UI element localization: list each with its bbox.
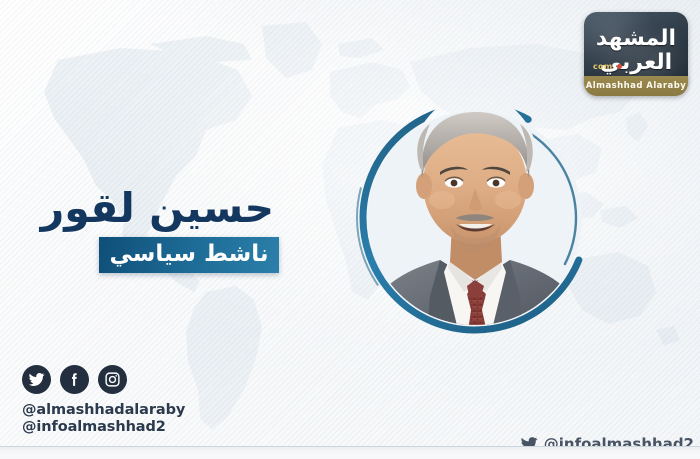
person-name: حسين لقور <box>0 186 290 232</box>
portrait-ring <box>338 88 613 353</box>
bottom-band <box>0 446 700 459</box>
portrait-area <box>338 88 613 353</box>
logo-dot-icon <box>617 64 622 69</box>
promo-card: المشهد العربي com Almashhad Alaraby <box>0 0 700 459</box>
handle-secondary[interactable]: @infoalmashhad2 <box>22 419 185 437</box>
person-title-text: ناشط سياسي <box>109 243 268 268</box>
social-block: @almashhadalaraby @infoalmashhad2 <box>22 365 185 437</box>
brand-logo[interactable]: المشهد العربي com Almashhad Alaraby <box>584 12 688 96</box>
social-icon-row <box>22 365 185 394</box>
logo-com-label: com <box>593 62 612 71</box>
person-title-banner: ناشط سياسي <box>99 237 279 273</box>
facebook-icon[interactable] <box>60 365 89 394</box>
twitter-icon[interactable] <box>22 365 51 394</box>
instagram-icon[interactable] <box>98 365 127 394</box>
logo-arabic-line1: المشهد <box>596 28 676 50</box>
handle-primary[interactable]: @almashhadalaraby <box>22 402 185 420</box>
